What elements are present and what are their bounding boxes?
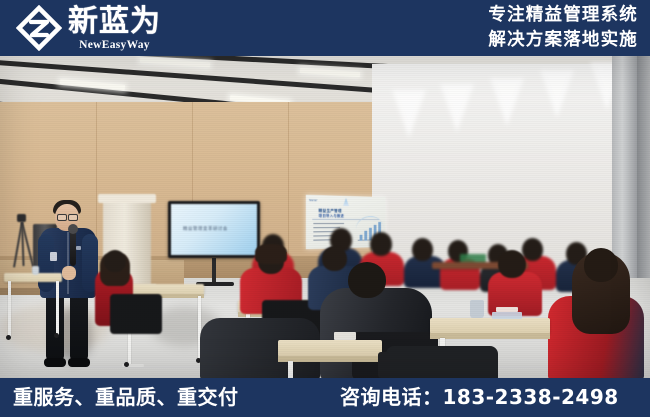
promo-image-frame: 精益管理变革研讨会 NEW 精益生产管理 项目导入与推进 [0, 0, 650, 417]
tv-monitor: 精益管理变革研讨会 [168, 201, 260, 258]
structural-pillar-edge [637, 56, 650, 288]
tripod-icon [17, 214, 26, 222]
training-photo: 精益管理变革研讨会 NEW 精益生产管理 项目导入与推进 [0, 56, 650, 378]
footer-bar: 重服务、重品质、重交付 咨询电话：183-2338-2498 [0, 378, 650, 417]
brand-name-en: NewEasyWay [68, 40, 161, 52]
slide-subtitle: 项目导入与推进 [319, 213, 345, 218]
tv-screen: 精益管理变革研讨会 [171, 204, 257, 255]
slogan-line-2: 解决方案落地实施 [488, 28, 638, 53]
brand-name-cn: 新蓝为 [68, 7, 161, 37]
slide-mark-icon [343, 198, 349, 206]
footer-tagline: 重服务、重品质、重交付 [13, 384, 239, 410]
header-slogan: 专注精益管理系统 解决方案落地实施 [488, 3, 638, 53]
structural-pillar [612, 56, 638, 288]
glasses-icon [57, 214, 77, 219]
footer-phone: 咨询电话：183-2338-2498 [340, 384, 619, 410]
header-bar: 新蓝为 NewEasyWay 专注精益管理系统 解决方案落地实施 [0, 0, 650, 56]
slogan-line-1: 专注精益管理系统 [488, 3, 638, 28]
diamond-swirl-logo-icon [16, 5, 62, 51]
slide-logo: NEW [309, 198, 317, 202]
tv-stand-neck [212, 258, 216, 284]
tv-slide-text: 精益管理变革研讨会 [183, 226, 228, 232]
podium-top [98, 194, 156, 203]
brand-logo[interactable]: 新蓝为 NewEasyWay [16, 5, 161, 52]
